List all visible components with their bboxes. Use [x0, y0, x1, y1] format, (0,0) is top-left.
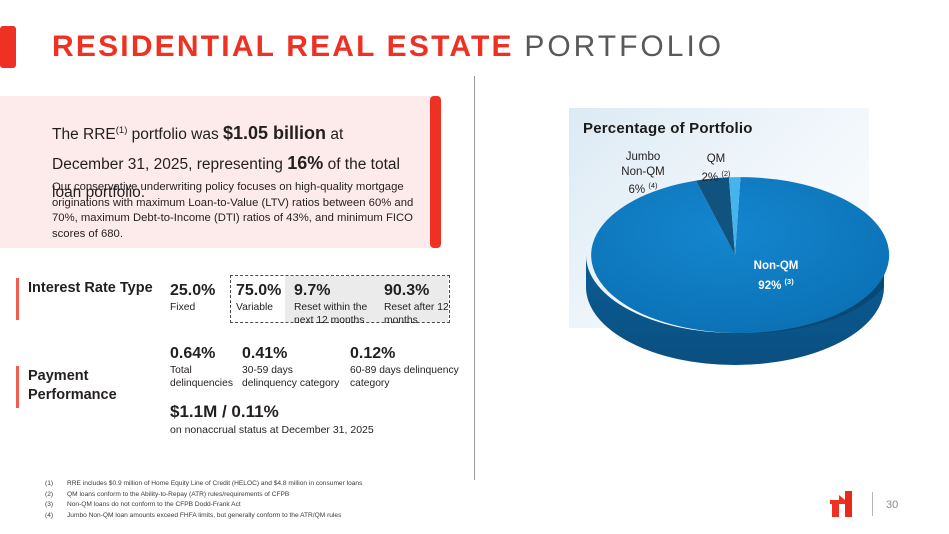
metric-reset-within-12-months: 9.7% Reset within the next 12 months: [294, 281, 380, 327]
footnote-marker: (2): [45, 490, 67, 501]
footnote-text: RRE includes $0.9 million of Home Equity…: [67, 479, 465, 490]
metric-nonaccrual: $1.1M / 0.11% on nonaccrual status at De…: [170, 402, 450, 437]
metric-30-59-days-caption: 30-59 days delinquency category: [242, 365, 346, 390]
page-title: RESIDENTIAL REAL ESTATE PORTFOLIO: [52, 28, 724, 66]
pie-slice-non-qm: [591, 177, 889, 333]
metric-60-89-days-caption: 60-89 days delinquency category: [350, 365, 460, 390]
footnote-marker: (1): [45, 479, 67, 490]
metric-nonaccrual-caption: on nonaccrual status at December 31, 202…: [170, 424, 450, 437]
callout-footnote-ref-1: (1): [116, 125, 128, 136]
metric-variable-caption: Variable: [236, 302, 288, 315]
pie-callout-qm-name: QM: [686, 152, 746, 167]
metric-60-89-days: 0.12% 60-89 days delinquency category: [350, 344, 460, 390]
metric-reset-after-12-months: 90.3% Reset after 12 months: [384, 281, 450, 327]
pie-callout-qm-ref: (2): [721, 169, 730, 178]
footnote-marker: (3): [45, 500, 67, 511]
metric-variable: 75.0% Variable: [236, 281, 288, 315]
metric-variable-value: 75.0%: [236, 281, 288, 300]
pie-callout-jumbo-name-2: Non-QM: [606, 165, 680, 180]
pie-label-non-qm-value: 92%: [758, 280, 781, 292]
footnote-text: QM loans conform to the Ability-to-Repay…: [67, 490, 465, 501]
pie-callout-jumbo-ref: (4): [648, 181, 657, 190]
metric-30-59-days-value: 0.41%: [242, 344, 346, 363]
callout-edge-accent-bar: [430, 96, 441, 248]
metric-60-89-days-value: 0.12%: [350, 344, 460, 363]
title-accent-bar: [0, 26, 16, 68]
page-number: 30: [886, 499, 898, 511]
footnotes-list: (1) RRE includes $0.9 million of Home Eq…: [45, 479, 465, 521]
metric-total-delinquencies: 0.64% Total delinquencies: [170, 344, 242, 390]
section-label-interest-rate: Interest Rate Type: [28, 279, 168, 298]
pie-callout-jumbo-value: 6%: [629, 184, 646, 196]
callout-headline-amount: $1.05 billion: [223, 123, 326, 143]
pie-callout-qm-value: 2%: [702, 171, 719, 183]
callout-headline-text-2: portfolio was: [127, 126, 223, 143]
pie-callout-qm-value-row: 2% (2): [686, 167, 746, 185]
footnote-text: Jumbo Non-QM loan amounts exceed FHFA li…: [67, 511, 465, 522]
metric-total-delinquencies-caption: Total delinquencies: [170, 365, 242, 390]
pie-label-non-qm-ref: (3): [785, 277, 794, 286]
metric-reset-within-value: 9.7%: [294, 281, 380, 300]
pie-callout-jumbo-value-row: 6% (4): [606, 179, 680, 197]
footnote-marker: (4): [45, 511, 67, 522]
metric-reset-within-caption: Reset within the next 12 months: [294, 302, 380, 327]
footer-divider: [872, 492, 873, 516]
footnote-item: (1) RRE includes $0.9 million of Home Eq…: [45, 479, 465, 490]
pie-callout-jumbo-name-1: Jumbo: [606, 150, 680, 165]
column-divider: [474, 76, 475, 480]
metric-total-delinquencies-value: 0.64%: [170, 344, 242, 363]
callout-headline-text-1: The RRE: [52, 126, 116, 143]
footnote-item: (2) QM loans conform to the Ability-to-R…: [45, 490, 465, 501]
footnote-item: (3) Non-QM loans do not conform to the C…: [45, 500, 465, 511]
metric-reset-after-value: 90.3%: [384, 281, 450, 300]
company-logo-icon: [828, 491, 858, 517]
metric-fixed-value: 25.0%: [170, 281, 228, 300]
pie-label-non-qm-name: Non-QM: [726, 259, 826, 274]
metric-nonaccrual-value: $1.1M / 0.11%: [170, 402, 450, 421]
metric-30-59-days: 0.41% 30-59 days delinquency category: [242, 344, 346, 390]
page-title-primary: RESIDENTIAL REAL ESTATE: [52, 30, 514, 63]
metric-fixed-caption: Fixed: [170, 302, 228, 315]
section-rule-interest-rate: [16, 278, 19, 320]
pie-label-non-qm: Non-QM 92% (3): [726, 259, 826, 294]
callout-headline-percent: 16%: [287, 153, 323, 173]
metric-reset-after-caption: Reset after 12 months: [384, 302, 450, 327]
section-label-payment-performance: Payment Performance: [28, 367, 178, 405]
pie-callout-jumbo-non-qm: Jumbo Non-QM 6% (4): [606, 150, 680, 197]
metric-fixed: 25.0% Fixed: [170, 281, 228, 315]
section-rule-payment-performance: [16, 366, 19, 408]
footnote-item: (4) Jumbo Non-QM loan amounts exceed FHF…: [45, 511, 465, 522]
chart-title: Percentage of Portfolio: [583, 120, 753, 137]
pie-callout-qm: QM 2% (2): [686, 152, 746, 185]
pie-label-non-qm-value-row: 92% (3): [726, 274, 826, 294]
page-title-secondary: PORTFOLIO: [524, 30, 724, 63]
callout-body-text: Our conservative underwriting policy foc…: [52, 180, 418, 242]
footnote-text: Non-QM loans do not conform to the CFPB …: [67, 500, 465, 511]
